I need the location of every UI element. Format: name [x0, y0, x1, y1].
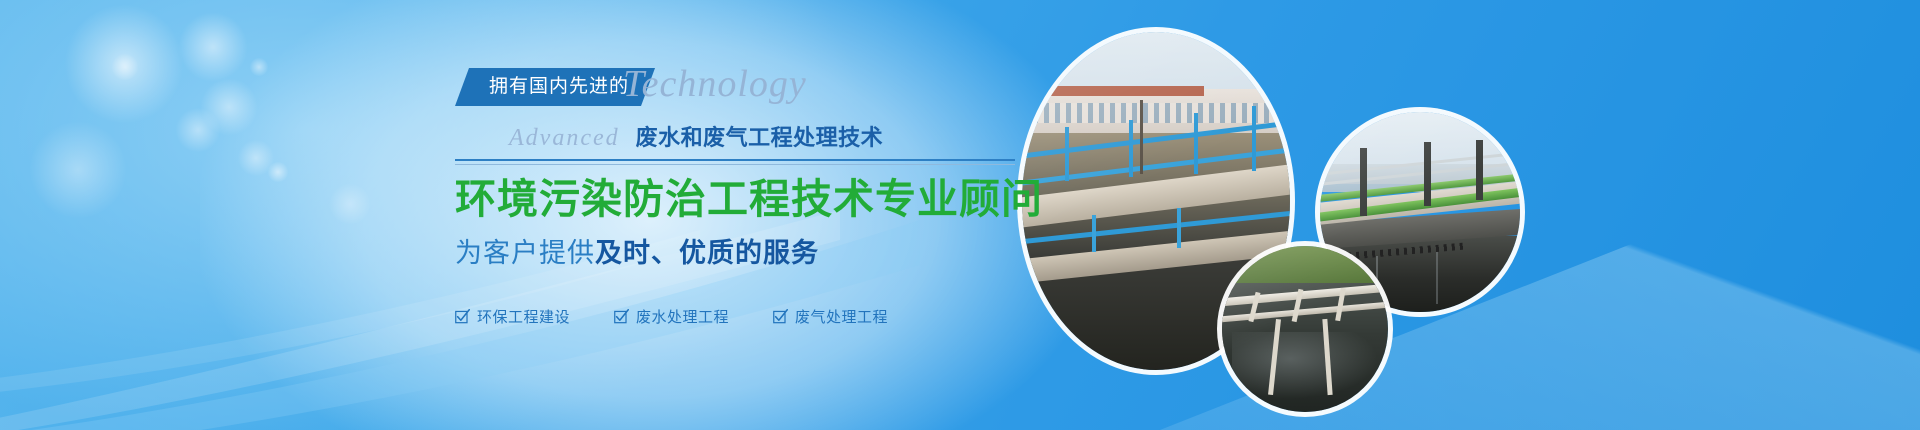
- slogan: 为客户提供及时、优质的服务: [455, 231, 1015, 270]
- slogan-emphasis: 及时、优质的服务: [595, 238, 819, 268]
- bokeh-circle: [238, 140, 274, 176]
- divider-line-thin: [455, 164, 1015, 165]
- divider-line-thick: [455, 159, 1015, 161]
- check-icon: [455, 309, 470, 324]
- bokeh-circle: [30, 122, 126, 218]
- slogan-prefix: 为客户提供: [455, 238, 595, 268]
- check-icon: [773, 309, 788, 324]
- subtitle-cn: 废水和废气工程处理技术: [636, 120, 884, 152]
- bokeh-circle: [200, 78, 258, 136]
- promo-banner: 拥有国内先进的 Technology Advanced 废水和废气工程处理技术 …: [0, 0, 1920, 430]
- technology-script-word: Technology: [623, 62, 807, 106]
- headline-row-top: 拥有国内先进的 Technology: [455, 68, 1015, 110]
- photo-aeration-basin: [1022, 32, 1290, 370]
- feature-list: 环保工程建设 废水处理工程 废气处理工程: [455, 306, 1015, 327]
- main-headline: 环境污染防治工程技术专业顾问: [455, 177, 1015, 223]
- photo-pipe-gallery: [1320, 112, 1520, 312]
- bokeh-circle: [250, 58, 268, 76]
- bokeh-circle: [178, 12, 248, 82]
- advanced-script-word: Advanced: [509, 125, 620, 152]
- divider-rules: [455, 159, 1015, 165]
- bokeh-circle: [112, 54, 138, 80]
- feature-item[interactable]: 废水处理工程: [614, 306, 729, 327]
- banner-copy: 拥有国内先进的 Technology Advanced 废水和废气工程处理技术 …: [455, 68, 1015, 327]
- bokeh-circle: [330, 184, 370, 224]
- bokeh-circle: [176, 108, 220, 152]
- feature-label: 环保工程建设: [477, 306, 570, 327]
- bokeh-circle: [64, 4, 184, 124]
- feature-label: 废气处理工程: [795, 306, 888, 327]
- bokeh-circle: [268, 162, 288, 182]
- feature-item[interactable]: 废气处理工程: [773, 306, 888, 327]
- feature-label: 废水处理工程: [636, 306, 729, 327]
- photo-sludge-tank: [1222, 246, 1388, 412]
- decorative-wedge: [1160, 130, 1920, 430]
- headline-row-sub: Advanced 废水和废气工程处理技术: [455, 116, 1015, 152]
- check-icon: [614, 309, 629, 324]
- feature-item[interactable]: 环保工程建设: [455, 306, 570, 327]
